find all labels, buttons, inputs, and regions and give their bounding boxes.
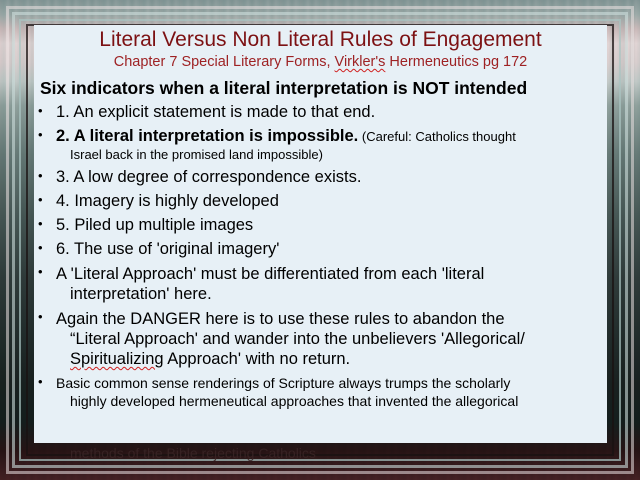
slide-title: Literal Versus Non Literal Rules of Enga… [34, 28, 607, 52]
paragraph-line: “Literal Approach' and wander into the u… [56, 329, 607, 349]
bullet-note: (Careful: Catholics thought [358, 129, 516, 144]
bullet-list: 1. An explicit statement is made to that… [34, 103, 607, 410]
paragraph-line-rest: Approach' with no return. [164, 350, 351, 368]
list-item: 5. Piled up multiple images [34, 216, 607, 235]
slide-content-panel: Literal Versus Non Literal Rules of Enga… [34, 25, 607, 443]
list-item: 2. A literal interpretation is impossibl… [34, 127, 607, 163]
subtitle-text-after: Hermeneutics pg 172 [385, 54, 527, 70]
bullet-text: 4. Imagery is highly developed [56, 192, 279, 210]
bullet-text: 6. The use of 'original imagery' [56, 240, 279, 258]
list-item-paragraph-literal-approach: A 'Literal Approach' must be differentia… [34, 264, 607, 304]
list-item: 6. The use of 'original imagery' [34, 240, 607, 259]
paragraph-line: Again the DANGER here is to use these ru… [56, 309, 607, 329]
list-item: 4. Imagery is highly developed [34, 192, 607, 211]
paragraph-line: A 'Literal Approach' must be differentia… [56, 264, 607, 284]
misspelled-word-spiritualizing: Spiritualizing [70, 350, 164, 368]
slide-subtitle: Chapter 7 Special Literary Forms, Virkle… [34, 54, 607, 71]
list-item-paragraph-common-sense: Basic common sense renderings of Scriptu… [34, 374, 607, 410]
paragraph-line: highly developed hermeneutical approache… [56, 392, 607, 410]
presentation-slide: Literal Versus Non Literal Rules of Enga… [0, 0, 640, 480]
subtitle-text-before: Chapter 7 Special Literary Forms, [114, 54, 335, 70]
paragraph-line: interpretation' here. [56, 284, 607, 304]
bullet-text: 1. An explicit statement is made to that… [56, 103, 375, 121]
overflow-text-line: methods of the Bible rejecting Catholics [34, 444, 607, 462]
bullet-note-wrap: Israel back in the promised land impossi… [56, 146, 607, 163]
bullet-text: 2. A literal interpretation is impossibl… [56, 127, 358, 145]
list-item-paragraph-danger: Again the DANGER here is to use these ru… [34, 309, 607, 369]
slide-heading: Six indicators when a literal interpreta… [40, 78, 607, 98]
subtitle-misspelled-word: Virkler's [335, 54, 386, 70]
paragraph-line: Basic common sense renderings of Scriptu… [56, 374, 607, 392]
list-item: 1. An explicit statement is made to that… [34, 103, 607, 122]
paragraph-line: Spiritualizing Approach' with no return. [56, 349, 607, 369]
list-item: 3. A low degree of correspondence exists… [34, 168, 607, 187]
bullet-text: 5. Piled up multiple images [56, 216, 253, 234]
bullet-text: 3. A low degree of correspondence exists… [56, 168, 361, 186]
